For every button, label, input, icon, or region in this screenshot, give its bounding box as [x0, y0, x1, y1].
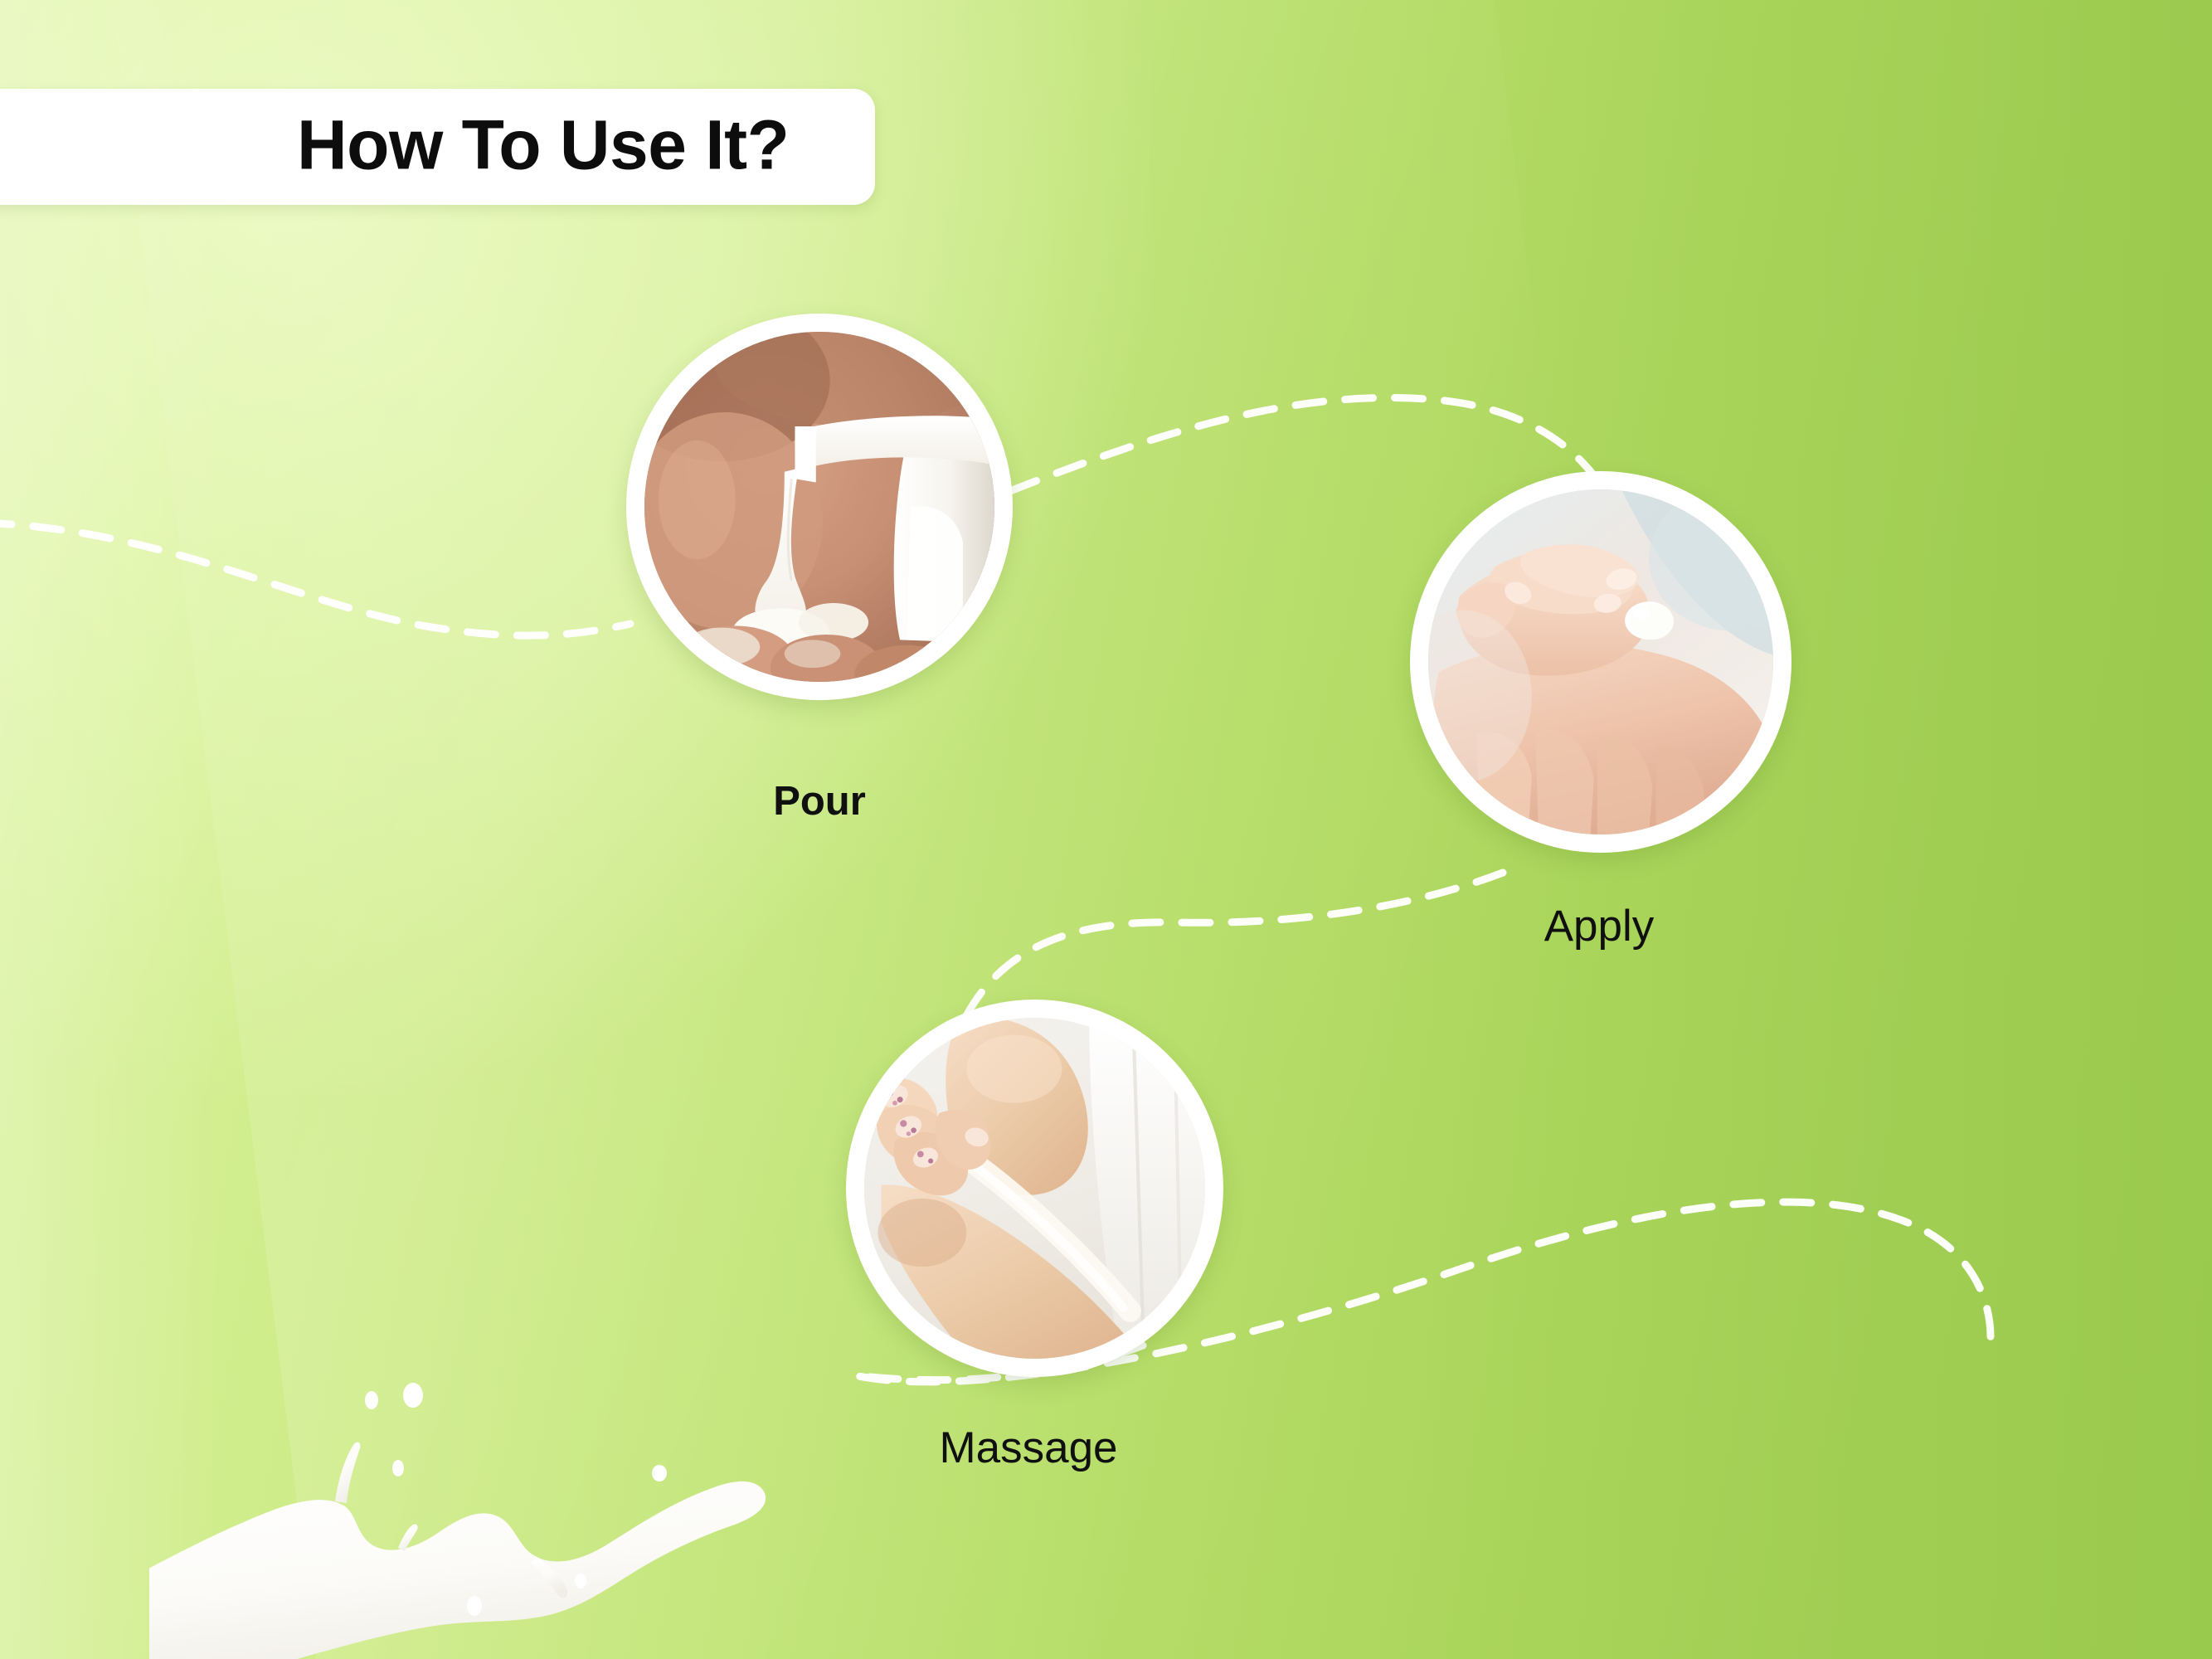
step-pour-label: Pour	[773, 778, 866, 825]
step-massage-label: Massage	[939, 1423, 1117, 1473]
step-pour-photo	[644, 332, 994, 682]
step-pour-circle-frame	[626, 314, 1013, 700]
step-apply-label: Apply	[1544, 901, 1655, 951]
slide-canvas: How To Use It?	[0, 0, 2212, 1659]
page-title: How To Use It?	[297, 105, 789, 186]
step-massage-photo	[864, 1018, 1205, 1359]
title-banner: How To Use It?	[0, 89, 875, 205]
step-apply-circle-frame	[1410, 471, 1791, 853]
step-massage-circle-frame	[846, 1000, 1223, 1377]
background-gradient	[0, 0, 2212, 1659]
step-apply-photo	[1428, 489, 1773, 834]
